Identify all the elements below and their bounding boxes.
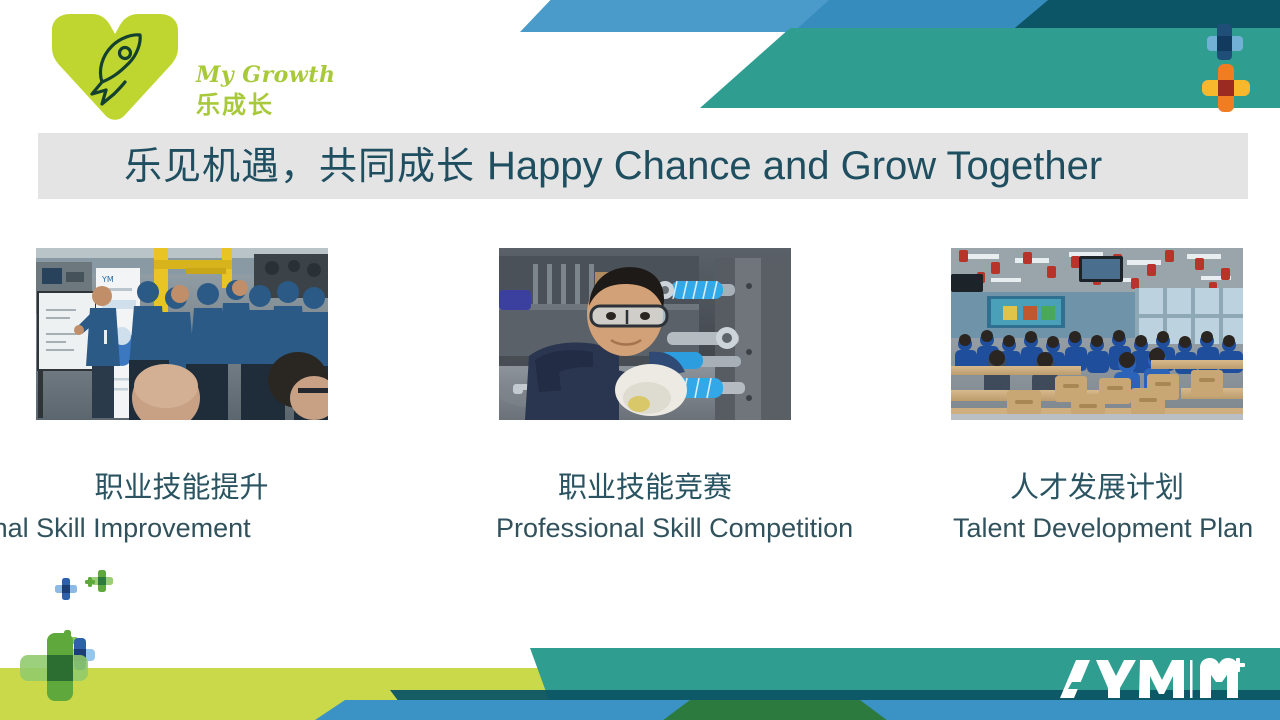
top-right-ribbons bbox=[520, 0, 1280, 108]
page-title-en: Happy Chance and Grow Together bbox=[487, 144, 1102, 188]
card-vocational-skill-improvement: YM bbox=[36, 248, 328, 544]
logo-name-en: My Growth bbox=[196, 64, 346, 86]
card-talent-development-plan: 人才发展计划 Talent Development Plan bbox=[951, 248, 1243, 544]
card-caption-en: Vocational Skill Improvement bbox=[0, 514, 328, 544]
photo-technician-working-on-mold bbox=[499, 248, 791, 420]
page-title-cn: 乐见机遇，共同成长 bbox=[124, 144, 475, 188]
title-banner: 乐见机遇，共同成长Happy Chance and Grow Together bbox=[38, 133, 1248, 199]
plus-icon-green-small bbox=[91, 570, 113, 592]
card-caption-cn: 职业技能提升 bbox=[35, 472, 328, 504]
plus-icon-blue-small bbox=[55, 578, 77, 600]
brand-logo: My Growth 乐成长 bbox=[36, 8, 336, 128]
plus-icon-orange-top bbox=[1202, 64, 1250, 112]
card-professional-skill-competition: 职业技能竞赛 Professional Skill Competition bbox=[499, 248, 791, 544]
photo-employee-auditorium-assembly bbox=[951, 248, 1243, 420]
svg-text:YM: YM bbox=[101, 275, 114, 284]
photo-factory-training-session: YM bbox=[36, 248, 328, 420]
plus-icon-green-mid bbox=[57, 630, 78, 650]
slide-canvas: My Growth 乐成长 乐见机遇，共同成长Happy Chance and … bbox=[0, 0, 1280, 720]
plus-icon-blue-mid bbox=[63, 638, 95, 670]
plus-icon-green-large bbox=[20, 633, 88, 701]
card-caption-en: Talent Development Plan bbox=[953, 514, 1243, 544]
logo-name-cn: 乐成长 bbox=[196, 90, 346, 120]
card-caption-cn: 职业技能竞赛 bbox=[499, 472, 791, 504]
aym-brand-logo bbox=[1050, 658, 1246, 700]
bottom-left-lime-band bbox=[0, 668, 760, 720]
page-title: 乐见机遇，共同成长Happy Chance and Grow Together bbox=[124, 146, 1102, 186]
card-caption-en: Professional Skill Competition bbox=[496, 514, 791, 544]
card-caption-cn: 人才发展计划 bbox=[951, 472, 1243, 504]
plus-icon-green-tiny bbox=[85, 577, 95, 587]
heart-rocket-logo-icon bbox=[40, 12, 190, 124]
plus-icon-blue-top bbox=[1207, 24, 1243, 60]
